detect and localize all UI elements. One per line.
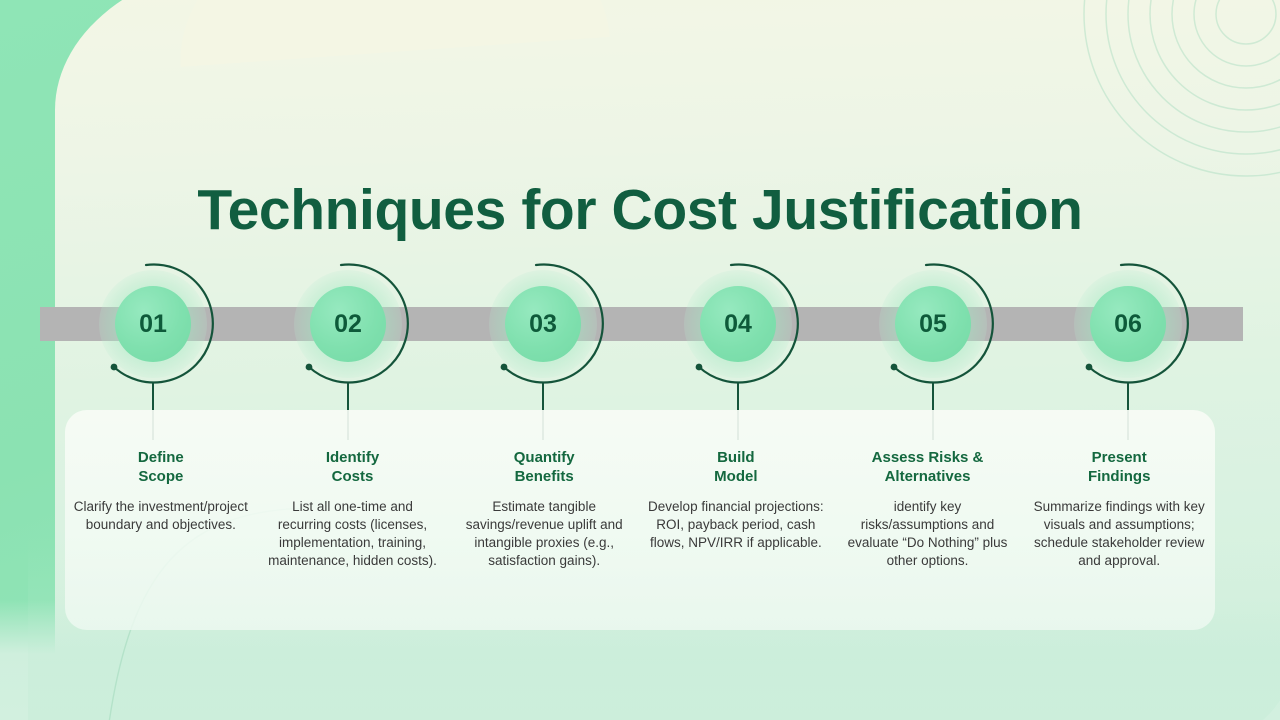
step-column-06: Present Findings Summarize findings with… bbox=[1023, 448, 1215, 570]
step-description-columns: Define Scope Clarify the investment/proj… bbox=[65, 448, 1215, 570]
step-body: Summarize findings with key visuals and … bbox=[1026, 498, 1212, 570]
step-heading-line1: Define bbox=[68, 448, 254, 467]
step-heading: Define Scope bbox=[68, 448, 254, 486]
step-column-01: Define Scope Clarify the investment/proj… bbox=[65, 448, 257, 570]
step-heading: Build Model bbox=[643, 448, 829, 486]
step-heading: Present Findings bbox=[1026, 448, 1212, 486]
step-heading-line2: Costs bbox=[260, 467, 446, 486]
step-body: List all one-time and recurring costs (l… bbox=[260, 498, 446, 570]
slide-canvas: Techniques for Cost Justification 01 02 bbox=[0, 0, 1280, 720]
step-body: Clarify the investment/project boundary … bbox=[68, 498, 254, 534]
step-heading-line1: Build bbox=[643, 448, 829, 467]
step-body: Develop financial projections: ROI, payb… bbox=[643, 498, 829, 552]
step-heading-line1: Assess Risks & bbox=[835, 448, 1021, 467]
step-heading-line1: Quantify bbox=[451, 448, 637, 467]
step-heading-line2: Model bbox=[643, 467, 829, 486]
step-column-03: Quantify Benefits Estimate tangible savi… bbox=[448, 448, 640, 570]
step-heading-line2: Findings bbox=[1026, 467, 1212, 486]
step-heading-line1: Identify bbox=[260, 448, 446, 467]
step-heading-line2: Alternatives bbox=[835, 467, 1021, 486]
step-column-04: Build Model Develop financial projection… bbox=[640, 448, 832, 570]
step-heading-line2: Benefits bbox=[451, 467, 637, 486]
step-heading-line1: Present bbox=[1026, 448, 1212, 467]
step-heading-line2: Scope bbox=[68, 467, 254, 486]
step-column-02: Identify Costs List all one-time and rec… bbox=[257, 448, 449, 570]
step-heading: Identify Costs bbox=[260, 448, 446, 486]
step-heading: Assess Risks & Alternatives bbox=[835, 448, 1021, 486]
step-body: Estimate tangible savings/revenue uplift… bbox=[451, 498, 637, 570]
timeline-rail bbox=[40, 307, 1243, 341]
step-column-05: Assess Risks & Alternatives identify key… bbox=[832, 448, 1024, 570]
step-heading: Quantify Benefits bbox=[451, 448, 637, 486]
step-body: identify key risks/assumptions and evalu… bbox=[835, 498, 1021, 570]
page-title: Techniques for Cost Justification bbox=[0, 181, 1280, 241]
